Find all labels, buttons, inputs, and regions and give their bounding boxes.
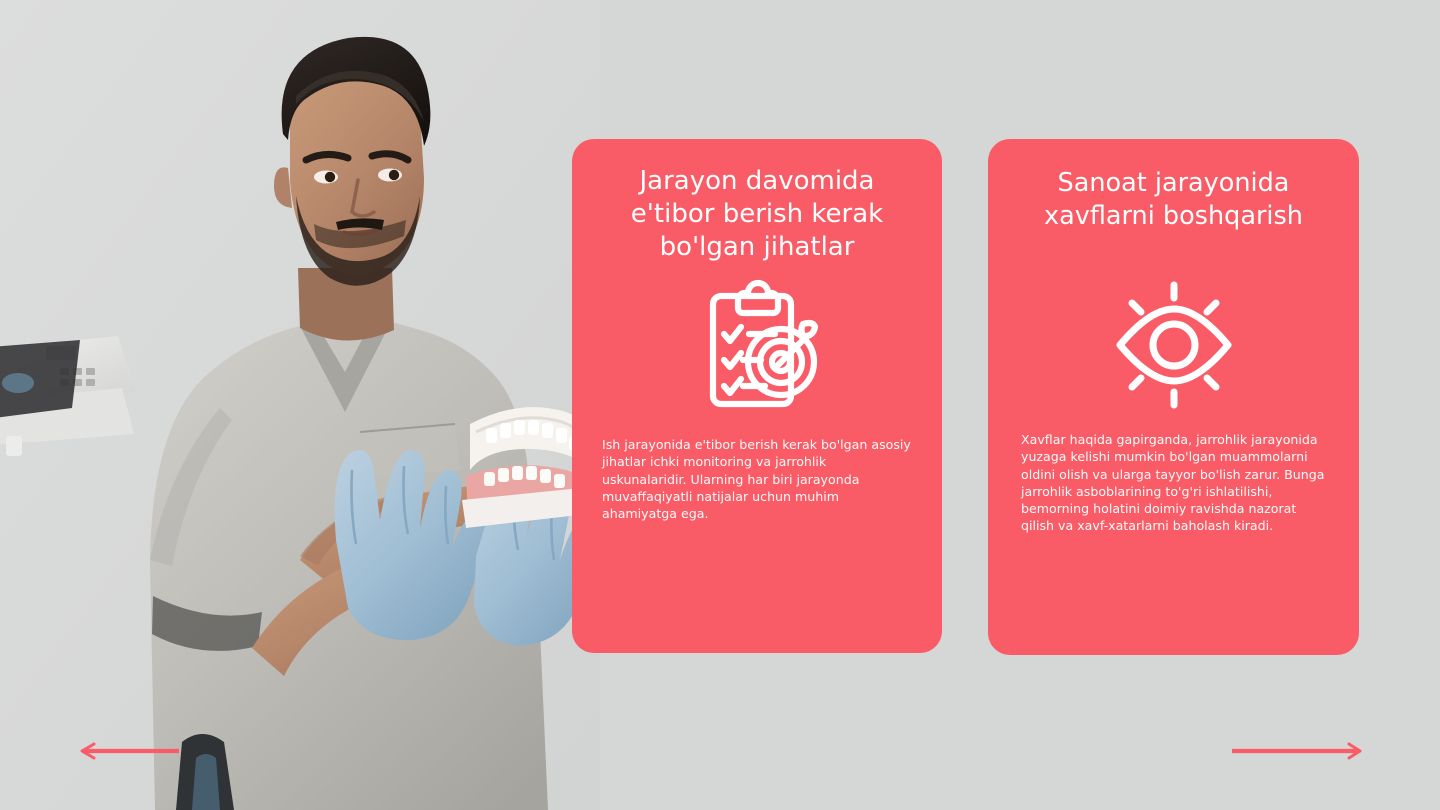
- card-icon-slot: [1021, 269, 1326, 421]
- arrow-left-icon[interactable]: [78, 740, 180, 762]
- card-body-text: Xavflar haqida gapirganda, jarrohlik jar…: [1021, 431, 1326, 535]
- card-title: Jarayon davomida e'tibor berish kerak bo…: [602, 165, 912, 264]
- card-icon-slot: [602, 274, 912, 422]
- card-title: Sanoat jarayonida xavflarni boshqarish: [1021, 167, 1326, 233]
- slide-root: Jarayon davomida e'tibor berish kerak bo…: [0, 0, 1440, 810]
- clipboard-target-icon: [691, 278, 823, 418]
- arrow-right-icon[interactable]: [1229, 740, 1363, 762]
- prev-slide-button[interactable]: [78, 740, 180, 762]
- content-card-process-aspects: Jarayon davomida e'tibor berish kerak bo…: [572, 139, 942, 653]
- next-slide-button[interactable]: [1229, 740, 1363, 762]
- eye-rays-icon: [1110, 281, 1238, 409]
- dentist-photo: [0, 0, 600, 810]
- dentist-photo-illustration: [0, 0, 600, 810]
- content-card-risk-management: Sanoat jarayonida xavflarni boshqarish X…: [988, 139, 1359, 655]
- card-body-text: Ish jarayonida e'tibor berish kerak bo'l…: [602, 436, 912, 522]
